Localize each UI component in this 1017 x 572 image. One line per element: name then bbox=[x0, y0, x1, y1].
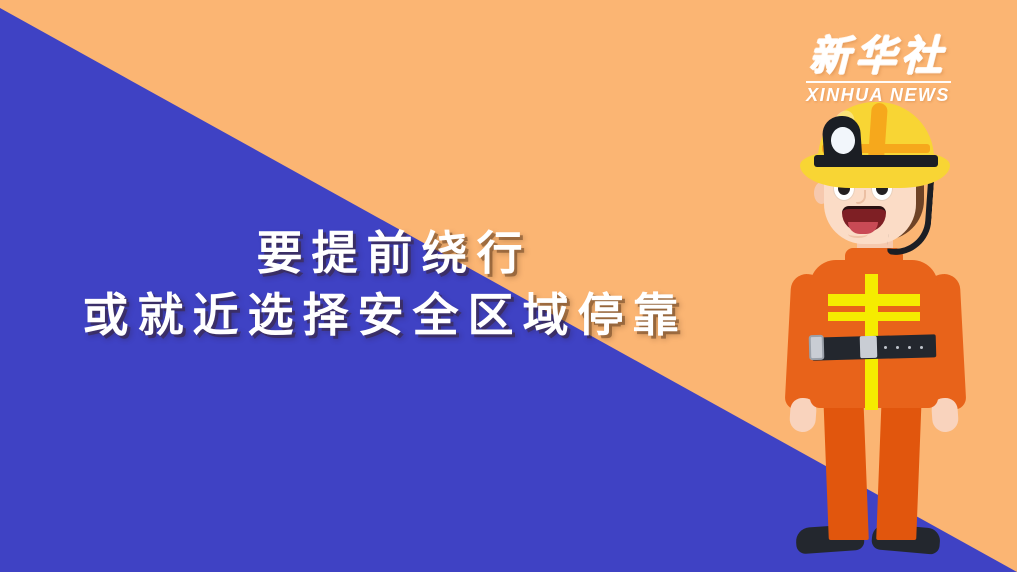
video-frame: 新华社 XINHUA NEWS 要提前绕行 或就近选择安全区域停靠 bbox=[0, 0, 1017, 572]
belt-hole bbox=[908, 346, 911, 349]
xinhua-news-logo: 新华社 XINHUA NEWS bbox=[803, 36, 953, 106]
reflective-stripe-horizontal-lower bbox=[828, 312, 920, 321]
trouser-leg-right bbox=[876, 394, 922, 540]
reflective-stripe-horizontal-upper bbox=[828, 294, 920, 306]
logo-chinese-text: 新华社 bbox=[803, 36, 953, 78]
chin-shadow bbox=[848, 230, 868, 238]
firefighter-character bbox=[752, 98, 1002, 572]
belt-hole bbox=[884, 346, 887, 349]
headline-line-1: 要提前绕行 bbox=[0, 222, 760, 284]
headline-block: 要提前绕行 或就近选择安全区域停靠 bbox=[0, 222, 760, 346]
trouser-leg-left bbox=[823, 394, 869, 540]
logo-divider-rule bbox=[806, 81, 951, 83]
belt-buckle bbox=[809, 335, 825, 360]
belt-hole bbox=[896, 346, 899, 349]
belt-clasp bbox=[860, 336, 878, 358]
belt-hole bbox=[920, 346, 923, 349]
headline-line-2: 或就近选择安全区域停靠 bbox=[0, 284, 760, 346]
